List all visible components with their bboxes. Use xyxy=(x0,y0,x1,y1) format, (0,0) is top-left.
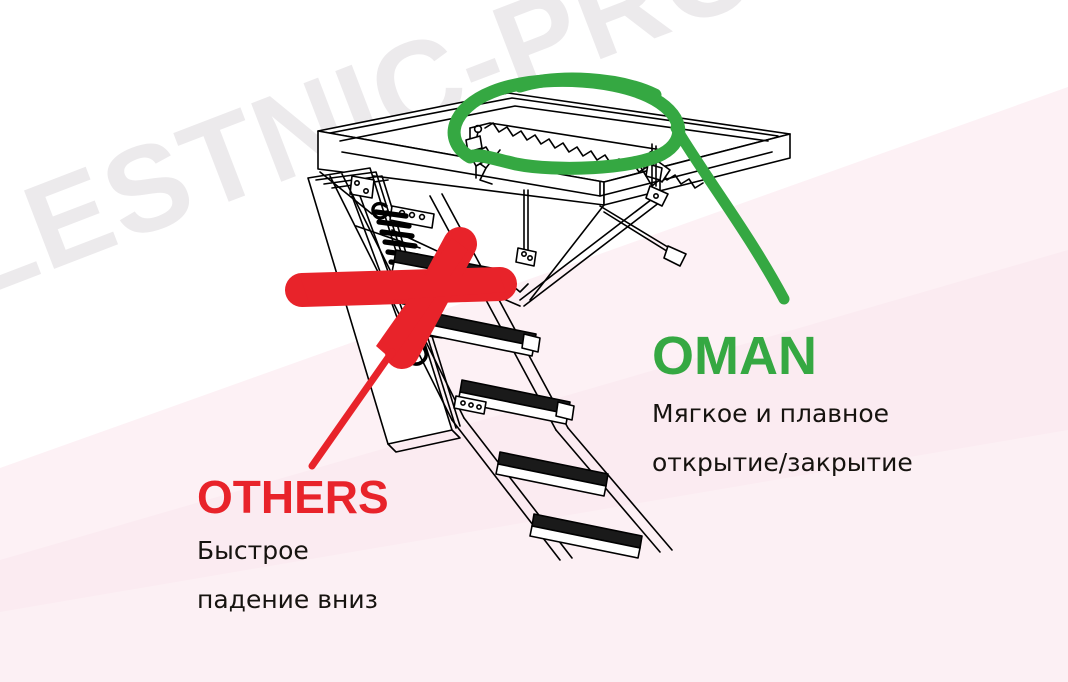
green-leader-line xyxy=(676,128,784,299)
oman-description-line-2: открытие/закрытие xyxy=(652,445,913,481)
green-ellipse-highlight xyxy=(454,79,679,168)
others-description-line-2: падение вниз xyxy=(197,582,389,618)
others-callout: OTHERS Быстрое падение вниз xyxy=(197,474,389,617)
oman-title: OMAN xyxy=(652,329,913,383)
red-arrow xyxy=(300,238,506,466)
illustration-canvas: LESTNIC-PROSTO.RU xyxy=(0,0,1068,682)
oman-callout: OMAN Мягкое и плавное открытие/закрытие xyxy=(652,329,913,480)
oman-description-line-1: Мягкое и плавное xyxy=(652,396,913,432)
others-title: OTHERS xyxy=(197,474,389,520)
others-description-line-1: Быстрое xyxy=(197,533,389,569)
